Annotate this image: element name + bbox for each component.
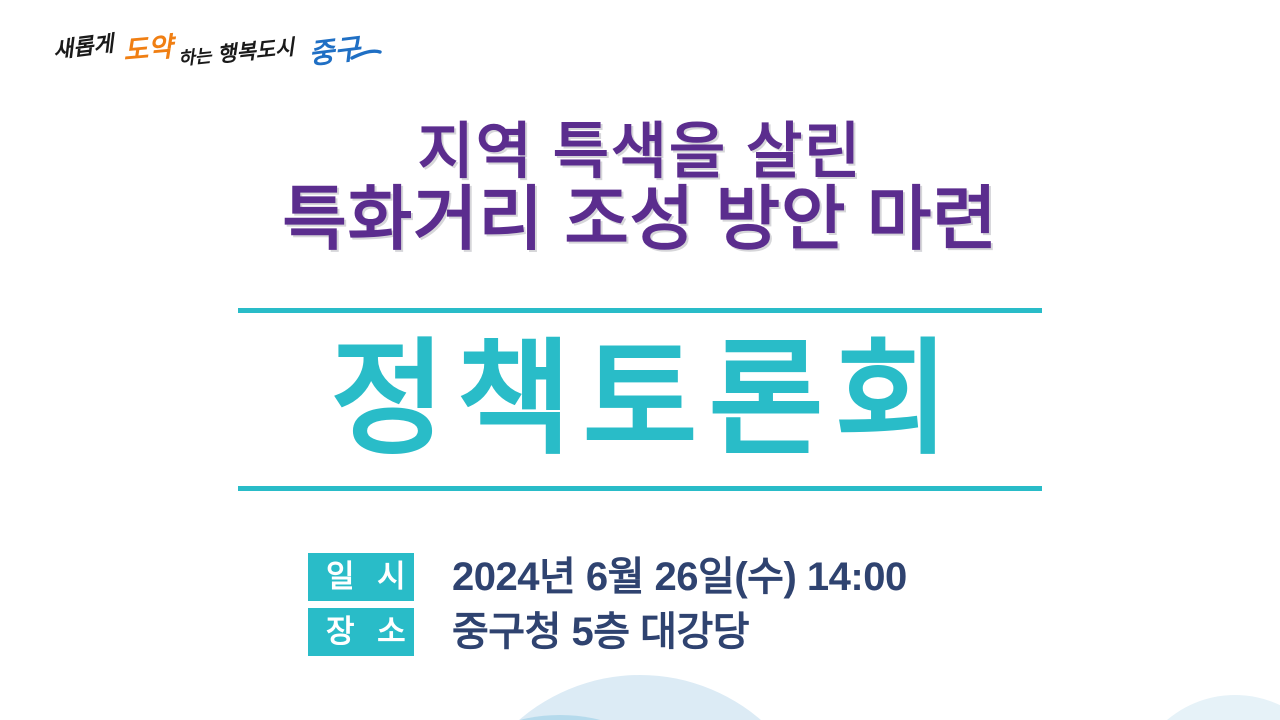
arc-medium-blue [395, 715, 725, 720]
info-value-venue: 중구청 5층 대강당 [452, 612, 749, 652]
info-label-datetime: 일 시 [308, 553, 414, 601]
logo-segment-haneun: 하는 [177, 45, 214, 69]
subtitle-line-1: 지역 특색을 살린 [0, 120, 1280, 182]
subtitle: 지역 특색을 살린 특화거리 조성 방안 마련 [0, 120, 1280, 256]
page-title: 정책토론회 [238, 319, 1042, 482]
headline-block: 정책토론회 [238, 308, 1042, 491]
arc-large-pale [455, 675, 825, 720]
logo-segment-haengbokdosi: 행복도시 [216, 35, 298, 67]
info-value-datetime: 2024년 6월 26일(수) 14:00 [452, 557, 907, 597]
logo-segment-junggu: 중구 [307, 32, 364, 71]
logo-segment-doyak: 도약 [122, 31, 179, 67]
subtitle-line-2: 특화거리 조성 방안 마련 [0, 184, 1280, 255]
arc-right-faint [1130, 695, 1280, 720]
info-row-venue: 장 소 중구청 5층 대강당 [308, 608, 907, 656]
info-row-datetime: 일 시 2024년 6월 26일(수) 14:00 [308, 553, 907, 601]
headline-rule-top [238, 308, 1042, 313]
logo-segment-saeropge: 새롭게 [52, 31, 119, 64]
junggu-ci-logo: 새롭게 도약 하는 행복도시 중구 [52, 22, 382, 80]
info-label-venue: 장 소 [308, 608, 414, 656]
event-info: 일 시 2024년 6월 26일(수) 14:00 장 소 중구청 5층 대강당 [308, 553, 907, 663]
headline-rule-bottom [238, 486, 1042, 491]
poster-canvas: 새롭게 도약 하는 행복도시 중구 지역 특색을 살린 특화거리 조성 방안 마… [0, 0, 1280, 720]
